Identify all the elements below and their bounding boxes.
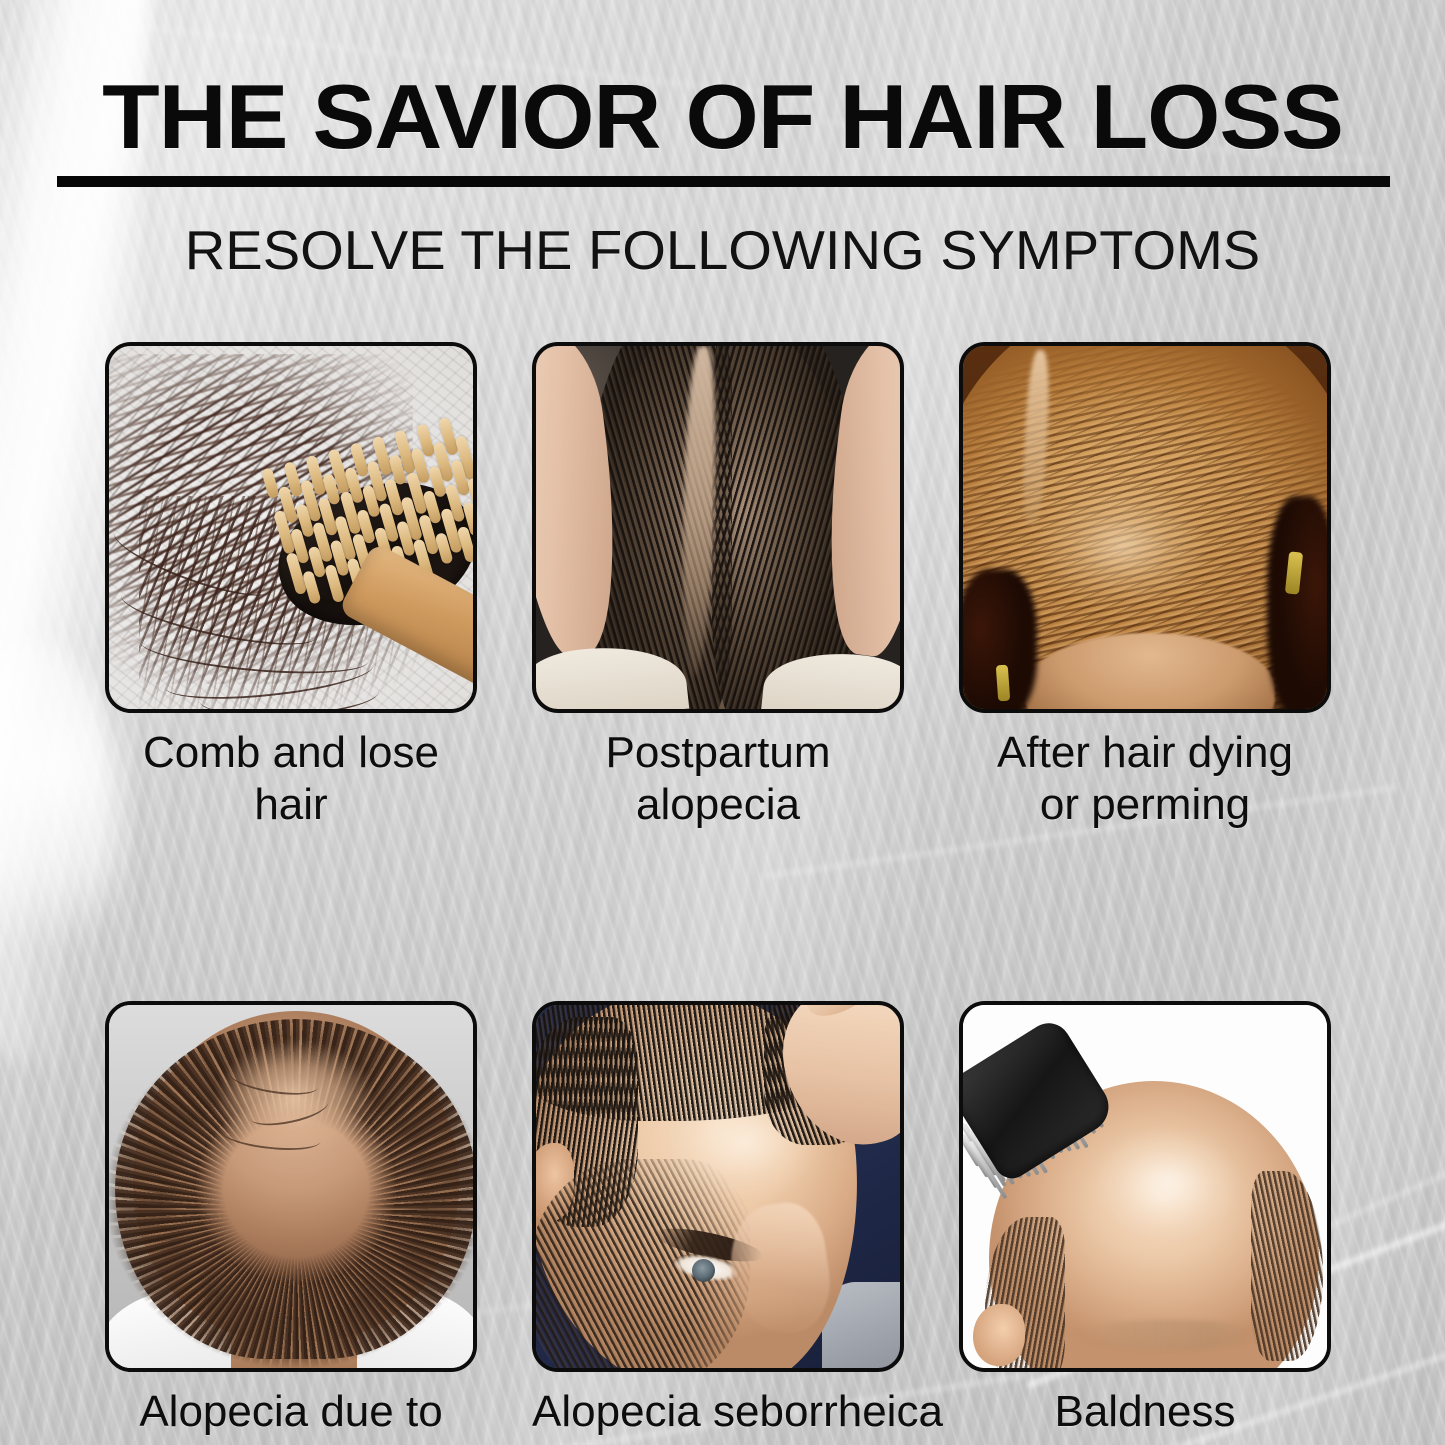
- symptom-caption: After hair dying or perming: [959, 727, 1331, 831]
- widening-part-crown-photo: [536, 346, 900, 709]
- symptom-cell: Alopecia due to mental pressure: [105, 1001, 477, 1445]
- symptom-caption: Baldness: [959, 1386, 1331, 1438]
- promotional-poster: THE SAVIOR OF HAIR LOSS RESOLVE THE FOLL…: [0, 0, 1445, 1445]
- symptom-cell: Postpartum alopecia: [532, 342, 904, 831]
- fabric-fold-bulge: [0, 640, 120, 970]
- symptom-caption: Postpartum alopecia: [532, 727, 904, 831]
- symptom-image-tile: [105, 342, 477, 713]
- dyed-copper-hair-thinning-photo: [963, 346, 1327, 709]
- symptom-cell: After hair dying or perming: [959, 342, 1331, 831]
- symptom-caption: Alopecia due to mental pressure: [105, 1386, 477, 1445]
- symptom-image-tile: [105, 1001, 477, 1372]
- symptom-image-tile: [959, 342, 1331, 713]
- symptom-image-tile: [532, 1001, 904, 1372]
- symptom-cell: Alopecia seborrheica: [532, 1001, 904, 1445]
- bald-head-with-brush-photo: [963, 1005, 1327, 1368]
- symptom-image-tile: [532, 342, 904, 713]
- symptom-caption-line2: or perming: [959, 779, 1331, 831]
- symptom-image-tile: [959, 1001, 1331, 1372]
- page-subtitle: RESOLVE THE FOLLOWING SYMPTOMS: [0, 222, 1445, 280]
- symptom-grid: Comb and lose hair Postpartum alopecia: [105, 342, 1332, 1445]
- symptom-caption: Comb and lose hair: [105, 727, 477, 831]
- symptom-caption-line1: Alopecia due to: [105, 1386, 477, 1438]
- bald-crown-back-of-head-photo: [109, 1005, 473, 1368]
- title-underline-rule: [57, 176, 1390, 187]
- symptom-caption-line1: After hair dying: [959, 727, 1331, 779]
- symptom-cell: Baldness: [959, 1001, 1331, 1445]
- receding-hairline-bearded-man-photo: [536, 1005, 900, 1368]
- hairbrush-with-fallen-hair-photo: [109, 346, 473, 709]
- symptom-caption: Alopecia seborrheica: [532, 1386, 904, 1438]
- symptom-cell: Comb and lose hair: [105, 342, 477, 831]
- symptom-caption-line2: mental pressure: [105, 1438, 477, 1445]
- page-title: THE SAVIOR OF HAIR LOSS: [0, 72, 1445, 165]
